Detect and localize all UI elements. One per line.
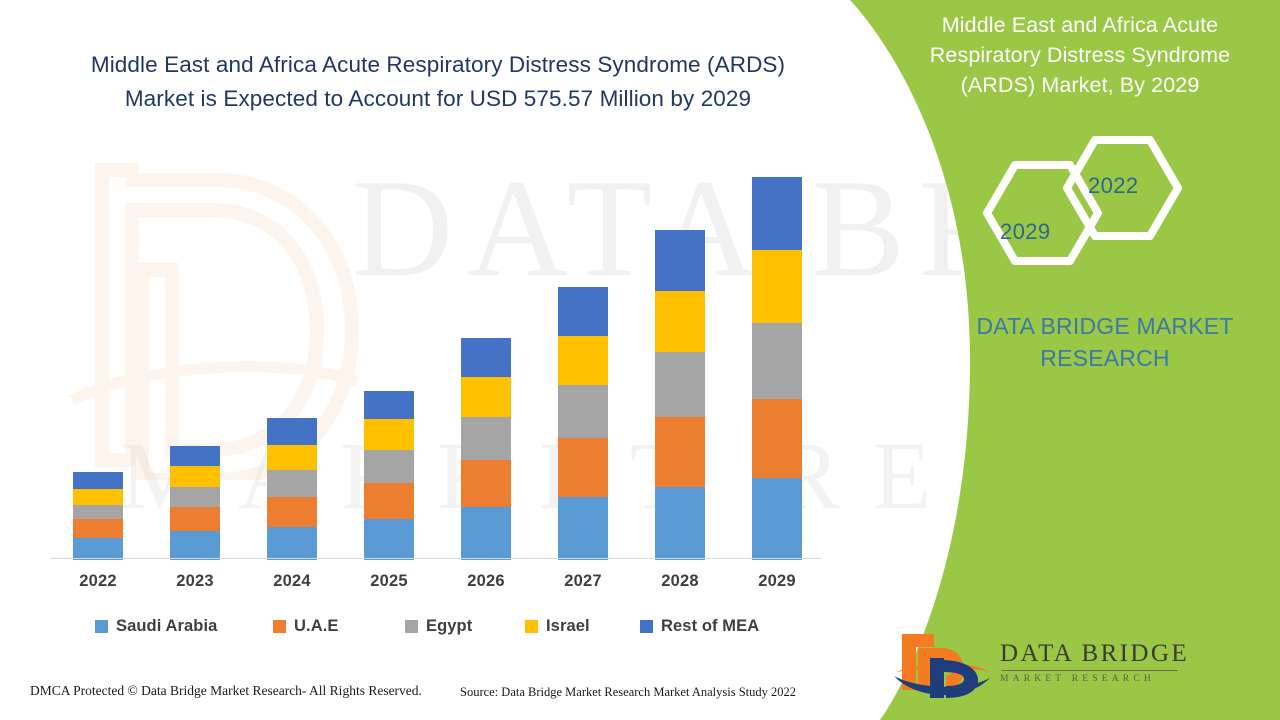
company-logo-divider [1002, 670, 1178, 671]
bar-segment [170, 487, 220, 507]
bar-segment [170, 446, 220, 466]
bar-segment [558, 385, 608, 438]
legend-swatch-icon [273, 620, 286, 633]
hexagon-label-start-year: 2022 [1088, 173, 1139, 199]
bar-segment [558, 497, 608, 560]
bar-column [558, 287, 608, 560]
bar-segment [655, 417, 705, 486]
legend-label: Egypt [426, 617, 472, 636]
x-axis-label: 2026 [441, 572, 531, 591]
legend-item[interactable]: Israel [525, 617, 590, 636]
chart-x-axis-labels: 20222023202420252026202720282029 [50, 572, 825, 598]
stacked-bar-chart [50, 150, 825, 560]
bar-segment [364, 391, 414, 420]
bar-segment [170, 507, 220, 532]
bar-column [267, 418, 317, 560]
bar-column [752, 177, 802, 560]
bar-segment [364, 519, 414, 560]
bar-segment [655, 487, 705, 560]
hexagon-badges: 2022 2029 [975, 130, 1205, 290]
bar-segment [558, 336, 608, 385]
bar-segment [73, 538, 123, 560]
bar-segment [461, 507, 511, 560]
company-logo-text: DATA BRIDGE MARKET RESEARCH [1000, 640, 1189, 684]
bar-column [655, 230, 705, 560]
legend-label: Rest of MEA [661, 617, 759, 636]
bar-segment [461, 377, 511, 418]
bar-segment [655, 230, 705, 291]
x-axis-label: 2024 [247, 572, 337, 591]
bar-segment [267, 497, 317, 528]
bar-segment [73, 489, 123, 505]
panel-brand-name: DATA BRIDGE MARKET RESEARCH [955, 310, 1255, 374]
legend-swatch-icon [525, 620, 538, 633]
bar-segment [655, 352, 705, 417]
x-axis-label: 2023 [150, 572, 240, 591]
company-logo-title: DATA BRIDGE [1000, 640, 1189, 668]
bar-segment [267, 445, 317, 471]
x-axis-label: 2027 [538, 572, 628, 591]
x-axis-label: 2028 [635, 572, 725, 591]
legend-label: Saudi Arabia [116, 617, 217, 636]
bar-segment [752, 177, 802, 250]
legend-item[interactable]: Saudi Arabia [95, 617, 217, 636]
legend-swatch-icon [405, 620, 418, 633]
legend-item[interactable]: Rest of MEA [640, 617, 759, 636]
legend-swatch-icon [640, 620, 653, 633]
bar-segment [364, 483, 414, 520]
legend-item[interactable]: Egypt [405, 617, 472, 636]
bar-column [73, 472, 123, 560]
bar-segment [558, 438, 608, 497]
bar-segment [655, 291, 705, 352]
bar-segment [752, 399, 802, 479]
bar-segment [364, 450, 414, 483]
bar-segment [73, 519, 123, 537]
bar-column [170, 446, 220, 560]
bar-segment [170, 466, 220, 486]
footer-copyright: DMCA Protected © Data Bridge Market Rese… [30, 683, 422, 699]
legend-item[interactable]: U.A.E [273, 617, 339, 636]
company-logo-subtitle: MARKET RESEARCH [1000, 674, 1189, 684]
legend-swatch-icon [95, 620, 108, 633]
hexagon-label-end-year: 2029 [1000, 219, 1051, 245]
bar-segment [461, 338, 511, 377]
legend-label: U.A.E [294, 617, 339, 636]
bar-segment [558, 287, 608, 336]
bar-column [364, 391, 414, 560]
bar-segment [364, 419, 414, 450]
infographic-canvas: DATA BRIDGE MARKET RESEARCH Middle East … [0, 0, 1280, 720]
bar-segment [267, 418, 317, 445]
bar-segment [461, 417, 511, 460]
x-axis-label: 2025 [344, 572, 434, 591]
bar-column [461, 338, 511, 560]
bar-segment [73, 472, 123, 488]
footer-source: Source: Data Bridge Market Research Mark… [460, 685, 796, 700]
bar-segment [752, 323, 802, 399]
bar-segment [170, 531, 220, 560]
page-title: Middle East and Africa Acute Respiratory… [58, 48, 818, 116]
chart-axis-line [50, 558, 822, 559]
x-axis-label: 2022 [53, 572, 143, 591]
panel-title: Middle East and Africa Acute Respiratory… [900, 10, 1260, 100]
x-axis-label: 2029 [732, 572, 822, 591]
bar-segment [752, 250, 802, 323]
hexagon-outline-icon [975, 130, 1205, 290]
bar-segment [73, 505, 123, 519]
legend-label: Israel [546, 617, 590, 636]
bar-segment [461, 460, 511, 507]
bar-segment [267, 527, 317, 560]
bar-segment [752, 478, 802, 560]
bar-segment [267, 470, 317, 497]
